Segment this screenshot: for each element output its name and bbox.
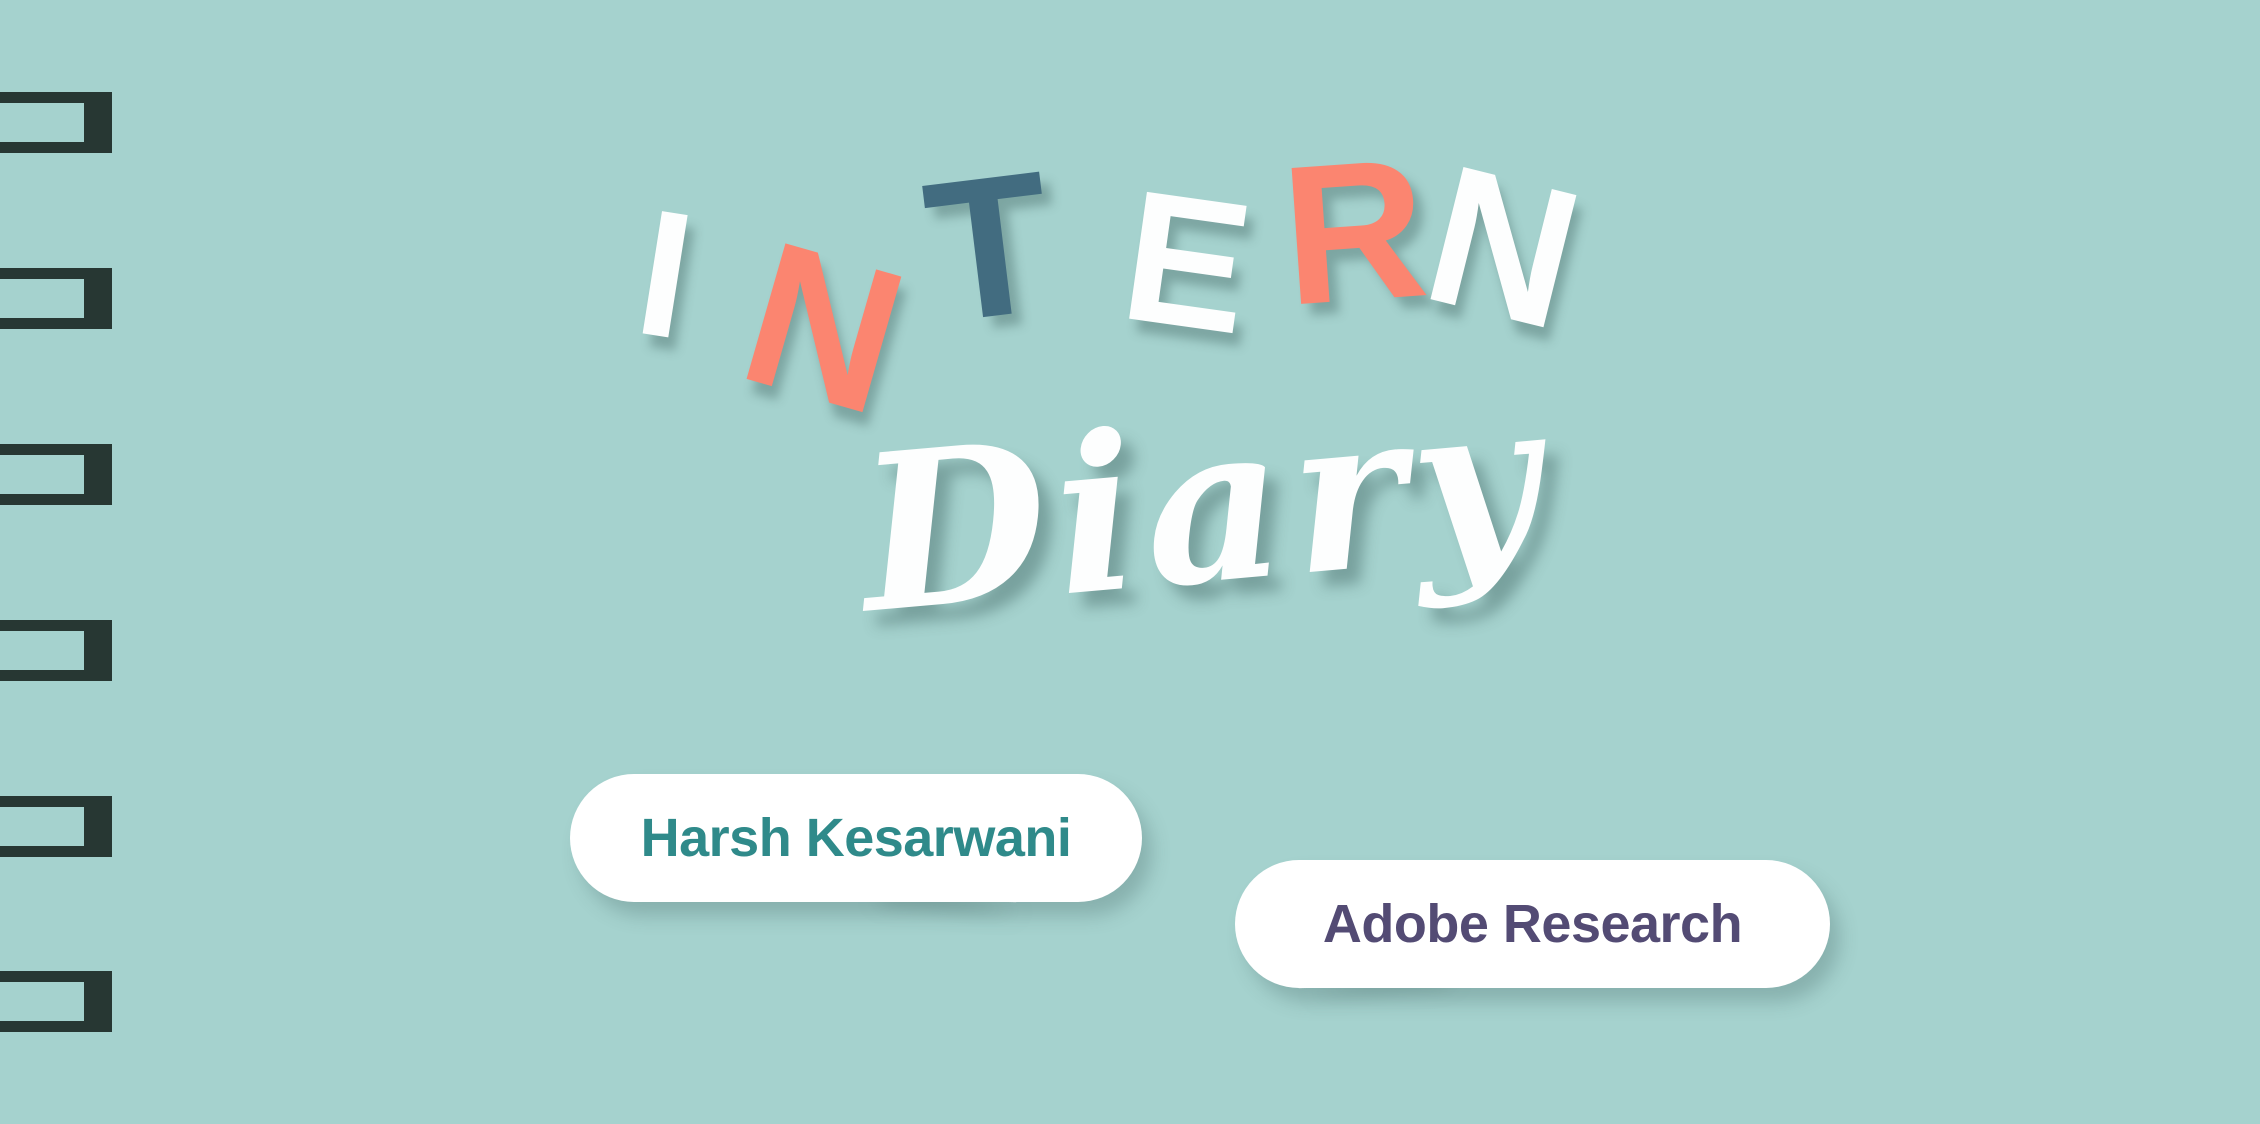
slide-canvas: I N T E R N Diary Harsh Kesarwani Adobe … [0, 0, 2260, 1124]
binding-ring-hole [0, 807, 84, 846]
title-letter-i: I [626, 182, 702, 367]
title-letter-e: E [1113, 162, 1260, 363]
title-letter-n2: N [1410, 134, 1595, 360]
speech-bubble-organization[interactable]: Adobe Research [1235, 860, 1830, 988]
title-letter-r: R [1276, 128, 1430, 335]
binding-ring [0, 620, 112, 681]
binding-ring [0, 971, 112, 1032]
binding-ring-hole [0, 982, 84, 1021]
speech-bubble-organization-label: Adobe Research [1323, 893, 1742, 955]
binding-ring [0, 796, 112, 857]
binding-ring-hole [0, 631, 84, 670]
speech-bubble-name[interactable]: Harsh Kesarwani [570, 774, 1142, 902]
title-diary: Diary [852, 369, 1554, 643]
speech-bubble-name-label: Harsh Kesarwani [641, 807, 1072, 869]
title-letter-t: T [916, 141, 1060, 354]
